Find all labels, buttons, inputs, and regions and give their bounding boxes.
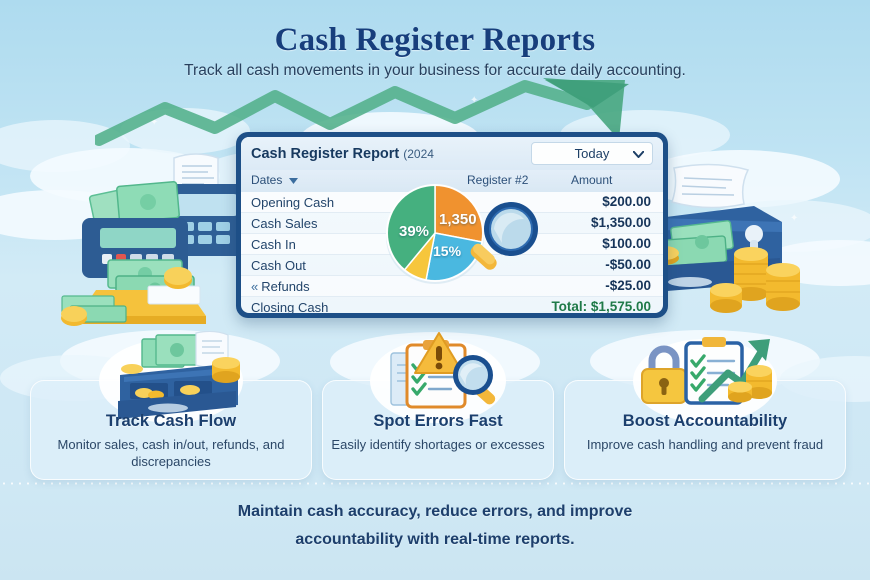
column-amount: Amount [571, 173, 612, 187]
row-label: Opening Cash [251, 195, 334, 210]
column-dates[interactable]: Dates [251, 173, 298, 187]
caret-down-icon [289, 178, 298, 184]
row-value: $200.00 [602, 194, 651, 209]
pie-label-green: 39% [399, 223, 429, 240]
magnifier-icon [463, 199, 541, 281]
card-title: Track Cash Flow [31, 412, 311, 431]
report-year: (2024 [403, 147, 434, 161]
card-description: Monitor sales, cash in/out, refunds, and… [39, 436, 303, 470]
dotted-divider [0, 482, 870, 485]
row-total-value: Total: $1,575.00 [551, 299, 651, 313]
cash-register-illustration [56, 150, 266, 330]
row-value: -$25.00 [605, 278, 651, 293]
feature-card-spot-errors-fast[interactable]: Spot Errors Fast Easily identify shortag… [322, 380, 554, 480]
row-label: Closing Cash [251, 300, 328, 313]
row-label: Cash Out [251, 258, 306, 273]
pie-label-blue: 15% [433, 243, 461, 259]
feature-card-boost-accountability[interactable]: Boost Accountability Improve cash handli… [564, 380, 846, 480]
footer-line-1: Maintain cash accuracy, reduce errors, a… [0, 498, 870, 526]
row-value: $100.00 [602, 236, 651, 251]
panel-header: Cash Register Report (2024 Today [241, 137, 663, 170]
row-label: «Refunds [251, 279, 310, 294]
row-label-text: Refunds [261, 279, 309, 294]
card-title: Boost Accountability [565, 412, 845, 431]
double-chevron-left-icon: « [251, 279, 258, 294]
period-dropdown[interactable]: Today [531, 142, 653, 165]
report-title: Cash Register Report [251, 146, 399, 162]
card-description: Easily identify shortages or excesses [331, 436, 545, 453]
column-dates-label: Dates [251, 173, 282, 187]
row-value: $1,350.00 [591, 215, 651, 230]
row-label: Cash In [251, 237, 296, 252]
table-row-total[interactable]: Closing Cash Total: $1,575.00 [241, 297, 663, 313]
feature-card-track-cash-flow[interactable]: Track Cash Flow Monitor sales, cash in/o… [30, 380, 312, 480]
footer-text: Maintain cash accuracy, reduce errors, a… [0, 498, 870, 554]
period-dropdown-value: Today [575, 146, 610, 161]
page-subtitle: Track all cash movements in your busines… [0, 62, 870, 80]
page-title: Cash Register Reports [0, 22, 870, 59]
footer-line-2: accountability with real-time reports. [0, 526, 870, 554]
row-label: Cash Sales [251, 216, 317, 231]
cash-register-report-panel: Cash Register Report (2024 Today Dates [236, 132, 668, 318]
card-description: Improve cash handling and prevent fraud [573, 436, 837, 453]
cash-drawer-coins-illustration [648, 162, 858, 327]
poster-canvas: ✦ ✦ ✦ ✦ ✦ [0, 0, 870, 580]
chevron-down-icon [633, 151, 644, 158]
row-value: -$50.00 [605, 257, 651, 272]
card-title: Spot Errors Fast [323, 412, 553, 431]
